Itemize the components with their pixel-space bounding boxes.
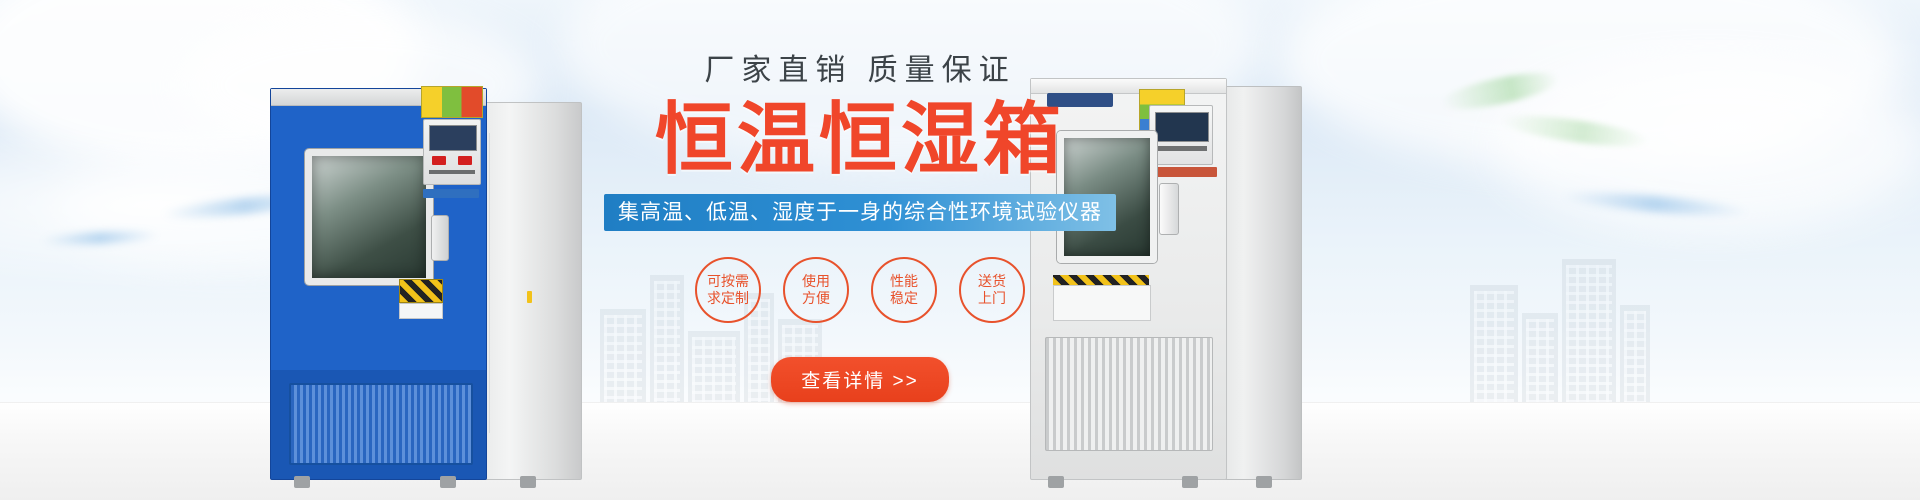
led-indicator	[432, 156, 446, 165]
feature-badge-easy-use[interactable]: 使用 方便	[783, 257, 849, 323]
chamber-foot	[1256, 476, 1272, 488]
led-indicator	[458, 156, 472, 165]
blue-streak-decoration	[40, 229, 160, 247]
chamber-left-side-panel	[478, 102, 582, 480]
badge-line-2: 上门	[978, 290, 1006, 307]
feature-badge-delivery[interactable]: 送货 上门	[959, 257, 1025, 323]
cloud-decoration	[1280, 0, 1900, 170]
banner-copy-block: 厂家直销 质量保证 恒温恒湿箱 集高温、低温、湿度于一身的综合性环境试验仪器 可…	[600, 40, 1120, 402]
control-screen	[429, 125, 477, 151]
badge-line-2: 稳定	[890, 290, 918, 307]
brand-nameplate	[423, 189, 479, 198]
chamber-right-side-panel	[1218, 86, 1302, 480]
chamber-left-body	[270, 88, 487, 480]
chamber-control-panel	[423, 119, 481, 185]
badge-line-1: 可按需	[707, 273, 749, 290]
cloud-decoration	[1500, 60, 1920, 230]
chamber-foot	[1182, 476, 1198, 488]
model-nameplate	[1147, 167, 1217, 177]
product-image-left-chamber	[270, 88, 580, 478]
badge-line-2: 方便	[802, 290, 830, 307]
control-button-row	[1155, 146, 1207, 151]
chamber-foot	[294, 476, 310, 488]
spec-plate	[399, 303, 443, 319]
blue-streak-decoration	[1560, 188, 1751, 220]
green-streak-decoration	[1499, 110, 1651, 153]
chamber-control-panel	[1149, 105, 1213, 165]
promo-banner: 厂家直销 质量保证 恒温恒湿箱 集高温、低温、湿度于一身的综合性环境试验仪器 可…	[0, 0, 1920, 500]
badge-line-1: 使用	[802, 273, 830, 290]
banner-tagline: 厂家直销 质量保证	[600, 56, 1120, 86]
chamber-door-handle	[431, 215, 449, 261]
panel-seam	[489, 133, 490, 433]
chamber-vent-grille	[289, 383, 473, 465]
chamber-foot	[440, 476, 456, 488]
chamber-foot	[1048, 476, 1064, 488]
chamber-viewing-window	[305, 149, 433, 285]
feature-badge-custom[interactable]: 可按需 求定制	[695, 257, 761, 323]
warning-label-strip	[421, 86, 483, 118]
hazard-stripe-label	[399, 279, 443, 303]
chamber-door-handle	[1159, 183, 1179, 235]
badge-line-1: 性能	[890, 273, 918, 290]
feature-badge-row: 可按需 求定制 使用 方便 性能 稳定 送货 上门	[600, 257, 1120, 323]
badge-line-1: 送货	[978, 273, 1006, 290]
panel-indicator	[527, 291, 532, 303]
badge-line-2: 求定制	[707, 290, 749, 307]
banner-headline: 恒温恒湿箱	[600, 100, 1120, 178]
control-screen	[1155, 112, 1209, 142]
control-button-row	[429, 170, 475, 174]
feature-badge-stable[interactable]: 性能 稳定	[871, 257, 937, 323]
green-streak-decoration	[1439, 66, 1562, 116]
chamber-foot	[520, 476, 536, 488]
swoosh-decoration	[1420, 40, 1920, 260]
view-details-button[interactable]: 查看详情 >>	[771, 357, 948, 402]
banner-subtitle-bar: 集高温、低温、湿度于一身的综合性环境试验仪器	[604, 194, 1116, 231]
